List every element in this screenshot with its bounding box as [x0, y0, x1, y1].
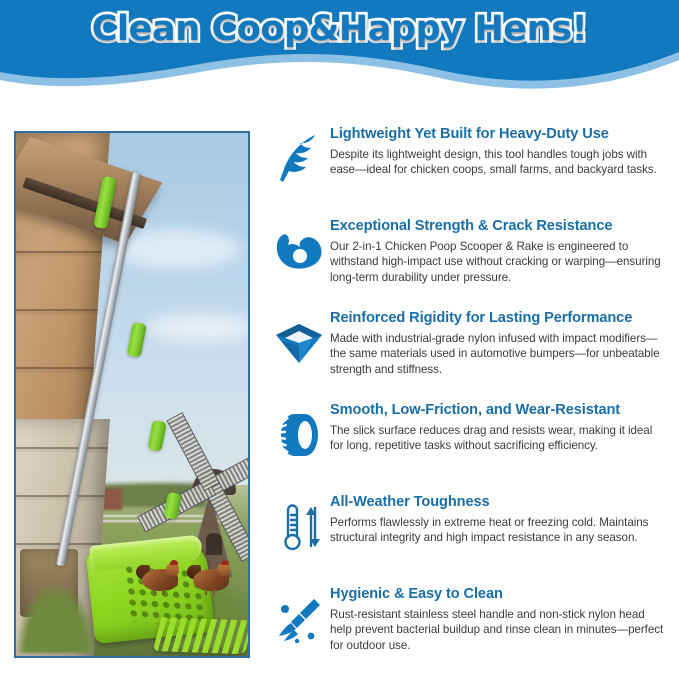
feature-title: Hygienic & Easy to Clean — [330, 586, 668, 604]
diamond-icon-svg — [273, 319, 325, 367]
chicken — [191, 563, 235, 593]
feature-title: Reinforced Rigidity for Lasting Performa… — [330, 310, 668, 328]
feature-text: Lightweight Yet Built for Heavy-Duty Use… — [330, 124, 668, 178]
feature-title: Exceptional Strength & Crack Resistance — [330, 218, 668, 236]
flexed-bicep-icon-svg — [274, 227, 324, 275]
feature-title: All-Weather Toughness — [330, 494, 668, 512]
grass-tuft — [16, 583, 96, 653]
feather-icon — [268, 124, 330, 190]
feature-list: Lightweight Yet Built for Heavy-Duty Use… — [268, 124, 668, 676]
feature-body: The slick surface reduces drag and resis… — [330, 423, 668, 455]
feature-body: Made with industrial-grade nylon infused… — [330, 331, 668, 379]
chicken — [140, 563, 184, 593]
cloud-shape — [146, 313, 248, 343]
thermometer-icon — [268, 492, 330, 558]
thermometer-icon-svg — [275, 501, 323, 553]
header-banner: Clean Coop&Happy Hens! — [0, 0, 679, 104]
feature-body: Performs flawlessly in extreme heat or f… — [330, 515, 668, 547]
feature-text: Exceptional Strength & Crack Resistance … — [330, 216, 668, 286]
cloud-shape — [112, 229, 242, 269]
cleaning-brush-icon — [268, 584, 330, 650]
feature-item-low-friction: Smooth, Low-Friction, and Wear-Resistant… — [268, 400, 668, 478]
feature-title: Smooth, Low-Friction, and Wear-Resistant — [330, 402, 668, 420]
feature-title: Lightweight Yet Built for Heavy-Duty Use — [330, 126, 668, 144]
feature-body: Despite its lightweight design, this too… — [330, 147, 668, 179]
feature-text: Reinforced Rigidity for Lasting Performa… — [330, 308, 668, 378]
diamond-icon — [268, 308, 330, 374]
feature-body: Our 2-in-1 Chicken Poop Scooper & Rake i… — [330, 239, 668, 287]
feature-item-lightweight: Lightweight Yet Built for Heavy-Duty Use… — [268, 124, 668, 202]
product-photo-scene — [16, 133, 248, 656]
feather-icon-svg — [276, 133, 322, 185]
feature-item-rigidity: Reinforced Rigidity for Lasting Performa… — [268, 308, 668, 386]
feature-text: All-Weather Toughness Performs flawlessl… — [330, 492, 668, 546]
feature-item-hygienic: Hygienic & Easy to Clean Rust-resistant … — [268, 584, 668, 662]
flexed-bicep-icon — [268, 216, 330, 282]
feature-item-all-weather: All-Weather Toughness Performs flawlessl… — [268, 492, 668, 570]
banner-wave-shape — [0, 0, 679, 104]
feature-item-strength: Exceptional Strength & Crack Resistance … — [268, 216, 668, 294]
feature-body: Rust-resistant stainless steel handle an… — [330, 607, 668, 655]
rake-tines — [153, 617, 248, 654]
feature-text: Smooth, Low-Friction, and Wear-Resistant… — [330, 400, 668, 454]
tire-icon-svg — [274, 410, 324, 460]
feature-text: Hygienic & Easy to Clean Rust-resistant … — [330, 584, 668, 654]
cleaning-brush-icon-svg — [273, 594, 325, 644]
tire-icon — [268, 400, 330, 466]
product-photo — [14, 131, 250, 658]
